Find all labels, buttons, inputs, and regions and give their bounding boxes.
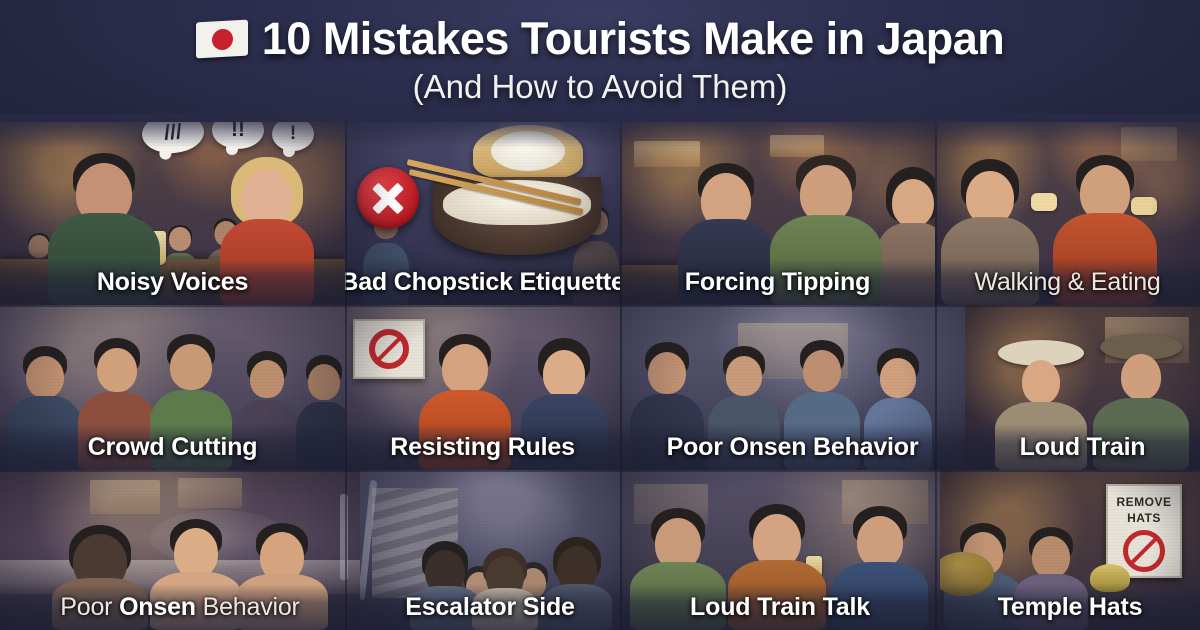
speech-bubble-3: ! (272, 117, 314, 151)
panel-caption: Poor Onsen Behavior (0, 584, 360, 630)
shop-sign (770, 135, 824, 157)
panel-caption: Walking & Eating (935, 259, 1200, 305)
prohibition-icon (369, 329, 409, 369)
panel-escalator-side[interactable]: Escalator Side (360, 470, 620, 630)
infographic-canvas: /// !! ! Noisy Voices (0, 0, 1200, 630)
panel-label-resisting-rules: Resisting Rules (390, 433, 575, 462)
panel-forcing-tipping[interactable]: Forcing Tipping (620, 105, 935, 305)
panel-crowd-cutting[interactable]: Crowd Cutting (0, 305, 345, 470)
panel-caption: Noisy Voices (0, 259, 345, 305)
no-hat-prohibition-icon (1123, 530, 1165, 572)
building-window (90, 480, 160, 514)
header-banner: 10 Mistakes Tourists Make in Japan (And … (0, 0, 1200, 122)
panel-caption: Poor Onsen Behavior (620, 424, 965, 470)
panel-label-poor-onsen-behavior-row2: Poor Onsen Behavior (667, 433, 919, 462)
label-part-3: Behavior (196, 593, 300, 621)
panel-caption: Escalator Side (360, 584, 620, 630)
panel-label-escalator-side: Escalator Side (405, 593, 575, 622)
panel-poor-onsen-behavior-row2[interactable]: Poor Onsen Behavior (620, 305, 965, 470)
flag-sun-disc (211, 28, 232, 50)
panel-row-1: /// !! ! Noisy Voices (0, 105, 1200, 305)
panel-caption: Loud Train (965, 424, 1200, 470)
panel-row-2: Crowd Cutting (0, 305, 1200, 470)
building-window (178, 478, 242, 508)
panel-noisy-voices[interactable]: /// !! ! Noisy Voices (0, 105, 345, 305)
panel-walking-and-eating[interactable]: Walking & Eating (935, 105, 1200, 305)
panel-caption: Resisting Rules (345, 424, 620, 470)
panel-poor-onsen-behavior[interactable]: Poor Onsen Behavior (0, 470, 360, 630)
row-divider (0, 305, 1200, 307)
page-subtitle: (And How to Avoid Them) (413, 68, 788, 106)
panel-label-poor-onsen-behavior: Poor Onsen Behavior (60, 593, 299, 622)
panel-caption: Forcing Tipping (620, 259, 935, 305)
panel-resisting-rules[interactable]: Resisting Rules (345, 305, 620, 470)
panel-caption: Loud Train Talk (620, 584, 940, 630)
panel-loud-train-talk[interactable]: Loud Train Talk (620, 470, 940, 630)
speech-bubble-text: /// (163, 120, 182, 145)
label-part-1: Poor (60, 593, 119, 621)
speech-bubble-text: ! (290, 123, 296, 145)
panel-label-forcing-tipping: Forcing Tipping (685, 268, 870, 297)
panel-label-loud-train-talk: Loud Train Talk (690, 593, 870, 622)
panel-label-crowd-cutting: Crowd Cutting (88, 433, 258, 462)
panel-temple-hats[interactable]: REMOVE HATS Temple Hats (940, 470, 1200, 630)
panel-row-3: Poor Onsen Behavior (0, 470, 1200, 630)
steamed-bun (491, 131, 565, 171)
panel-loud-train[interactable]: Loud Train (965, 305, 1200, 470)
label-part-emphasis: Onsen (119, 593, 196, 621)
panel-label-walking-and-eating: Walking & Eating (974, 268, 1160, 297)
panel-caption: Temple Hats (940, 584, 1200, 630)
remove-hats-sign: REMOVE HATS (1106, 484, 1182, 578)
panel-label-noisy-voices: Noisy Voices (97, 268, 248, 297)
title-row: 10 Mistakes Tourists Make in Japan (196, 8, 1004, 70)
no-smoking-sign (353, 319, 425, 379)
sign-line-2: HATS (1127, 512, 1161, 525)
row-divider (0, 470, 1200, 472)
panel-caption: Bad Chopstick Etiquette (345, 259, 620, 305)
japan-flag-icon (196, 20, 248, 59)
shop-sign (1121, 127, 1177, 161)
panel-bad-chopstick-etiquette[interactable]: Bad Chopstick Etiquette (345, 105, 620, 305)
panel-label-bad-chopstick-etiquette: Bad Chopstick Etiquette (345, 268, 620, 297)
shop-sign (634, 141, 700, 167)
panel-label-loud-train: Loud Train (1020, 433, 1146, 462)
panel-label-temple-hats: Temple Hats (998, 593, 1143, 622)
page-title: 10 Mistakes Tourists Make in Japan (262, 13, 1004, 65)
panel-caption: Crowd Cutting (0, 424, 345, 470)
sign-line-1: REMOVE (1116, 496, 1171, 509)
red-x-badge-icon (357, 167, 419, 229)
